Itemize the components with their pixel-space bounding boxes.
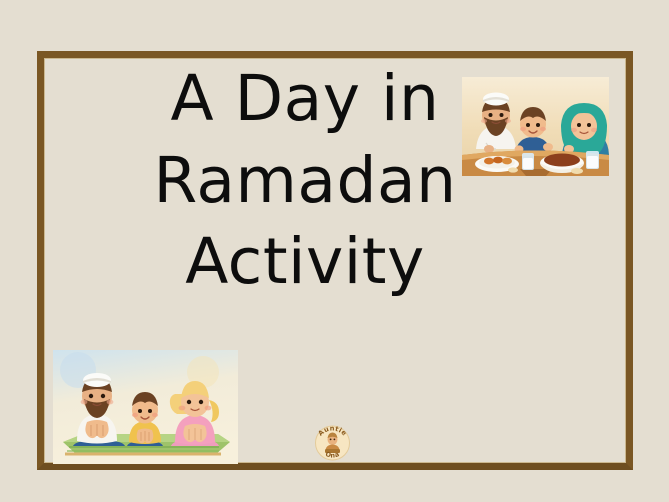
prayer-image <box>53 350 238 464</box>
iftar-image <box>462 77 609 176</box>
slide-canvas: A Day in Ramadan Activity <box>0 0 669 502</box>
title-line-3: Activity <box>42 231 568 293</box>
auntie-ona-logo: Auntie Ona <box>312 421 353 465</box>
